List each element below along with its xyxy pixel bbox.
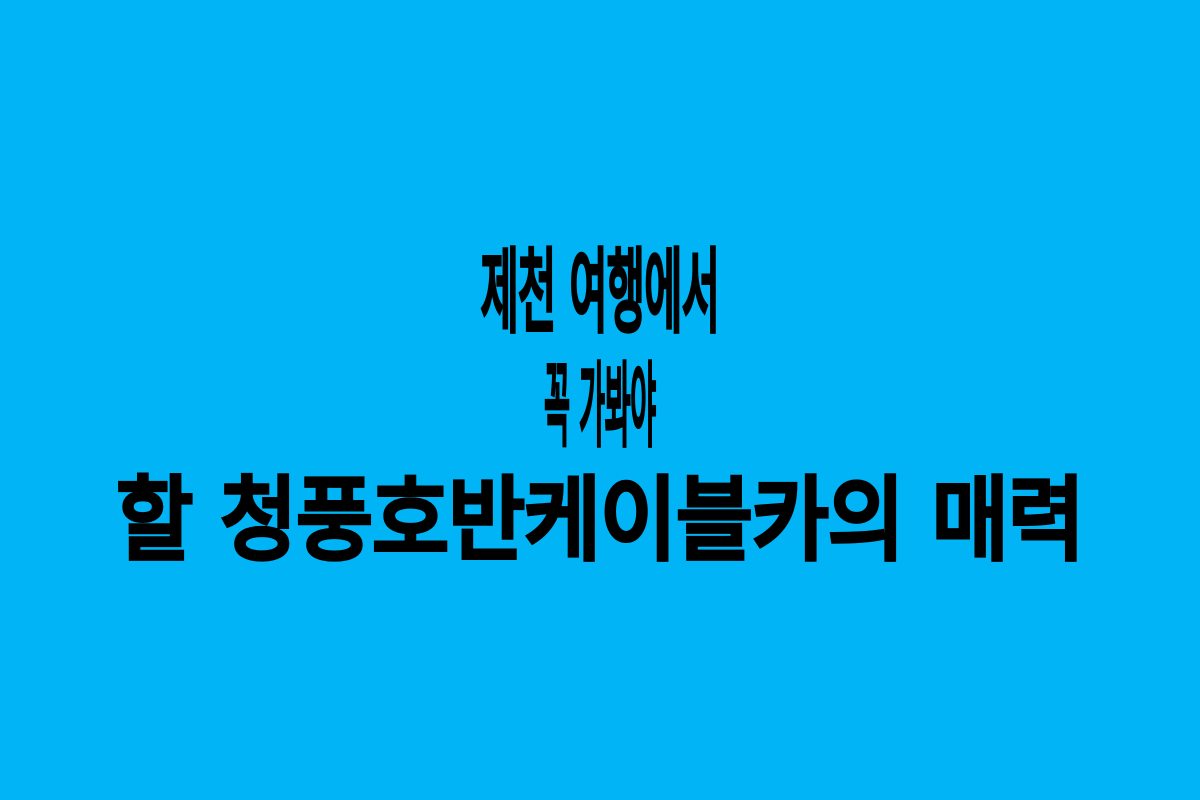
headline-block: 제천 여행에서 꼭 가봐야 할 청풍호반케이블카의 매력 [0,247,1200,567]
headline-line-3: 할 청풍호반케이블카의 매력 [54,475,1145,567]
thumbnail-canvas: 제천 여행에서 꼭 가봐야 할 청풍호반케이블카의 매력 [0,0,1200,800]
headline-line-1: 제천 여행에서 [331,247,869,339]
headline-line-2: 꼭 가봐야 [417,361,784,453]
